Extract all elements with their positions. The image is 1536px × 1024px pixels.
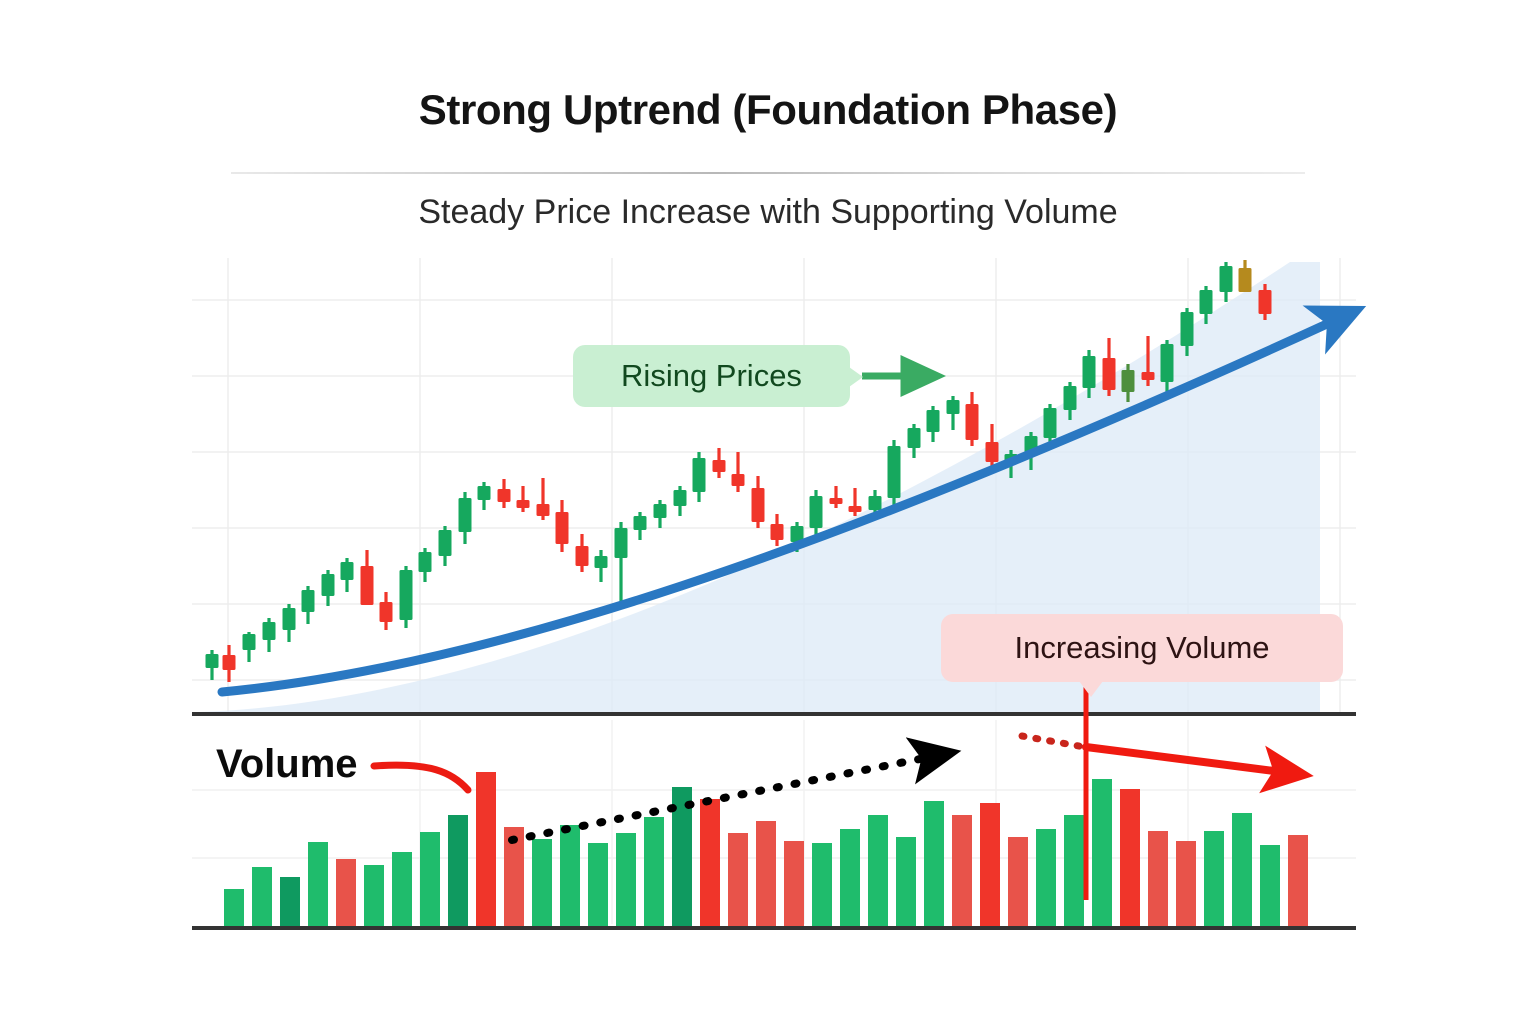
candle-body (1181, 312, 1194, 346)
volume-bar (1148, 831, 1168, 927)
candle-body (283, 608, 296, 630)
volume-bar (448, 815, 468, 927)
volume-bar (1204, 831, 1224, 927)
candle-body (459, 498, 472, 532)
chart-graphics (0, 0, 1536, 1024)
volume-warn-arrow (1086, 747, 1282, 772)
candle-body (1220, 266, 1233, 292)
candle-body (1161, 344, 1174, 382)
volume-bar (896, 837, 916, 927)
candle-body (1259, 290, 1272, 314)
volume-bar (952, 815, 972, 927)
volume-label-leader (374, 765, 468, 790)
volume-bar (616, 833, 636, 927)
volume-bar (840, 829, 860, 927)
candle-body (1239, 268, 1252, 292)
volume-bar (756, 821, 776, 927)
increasing-volume-label: Increasing Volume (1014, 630, 1269, 666)
candle-body (713, 460, 726, 472)
candle-body (206, 654, 219, 668)
candle-body (380, 602, 393, 622)
candle-body (556, 512, 569, 544)
volume-bar (392, 852, 412, 927)
candle-body (302, 590, 315, 612)
candle-body (654, 504, 667, 518)
candle-body (966, 404, 979, 440)
candle-body (615, 528, 628, 558)
candle-body (810, 496, 823, 528)
candle-body (888, 446, 901, 498)
volume-bar (784, 841, 804, 927)
candle-body (849, 506, 862, 512)
candle-body (419, 552, 432, 572)
volume-bar (280, 877, 300, 927)
volume-bar (532, 839, 552, 927)
volume-bar (1288, 835, 1308, 927)
candle-body (771, 524, 784, 540)
volume-bar (476, 772, 496, 927)
candle-body (986, 442, 999, 462)
volume-warn-arrow-tail (1022, 736, 1090, 748)
candle-body (322, 574, 335, 596)
volume-bar (1232, 813, 1252, 927)
candle-body (400, 570, 413, 620)
candle-body (634, 516, 647, 530)
candle-body (1122, 370, 1135, 392)
candle-body (1044, 408, 1057, 438)
candle-body (595, 556, 608, 568)
volume-bar (868, 815, 888, 927)
chart-canvas: Strong Uptrend (Foundation Phase) Steady… (0, 0, 1536, 1024)
volume-bar (1260, 845, 1280, 927)
rising-prices-label: Rising Prices (621, 358, 802, 394)
candle-body (1200, 290, 1213, 314)
candle-body (830, 498, 843, 504)
candle-body (341, 562, 354, 580)
volume-bar (1008, 837, 1028, 927)
volume-bar (1064, 815, 1084, 927)
volume-bar (924, 801, 944, 927)
volume-panel-label: Volume (216, 742, 358, 787)
volume-bar (1120, 789, 1140, 927)
volume-bar (364, 865, 384, 927)
candle-wick (521, 486, 524, 512)
candle-body (1083, 356, 1096, 388)
candle-body (908, 428, 921, 448)
volume-bar (700, 799, 720, 927)
volume-bar (252, 867, 272, 927)
candle-body (1142, 372, 1155, 380)
candle-body (223, 655, 236, 670)
candle-body (498, 489, 511, 502)
volume-bar (644, 817, 664, 927)
volume-bar (1036, 829, 1056, 927)
increasing-volume-callout[interactable]: Increasing Volume (941, 614, 1343, 682)
volume-bar (812, 843, 832, 927)
candle-body (576, 546, 589, 566)
candle-wick (834, 486, 837, 508)
candle-body (263, 622, 276, 640)
candle-body (947, 400, 960, 414)
volume-series (224, 772, 1308, 927)
rising-prices-callout[interactable]: Rising Prices (573, 345, 850, 407)
candle-body (927, 410, 940, 432)
candle-body (439, 530, 452, 556)
candle-body (752, 488, 765, 522)
volume-bar (224, 889, 244, 927)
candle-body (869, 496, 882, 510)
volume-bar (560, 825, 580, 927)
volume-bar (728, 833, 748, 927)
candle-body (243, 634, 256, 650)
volume-bar (1176, 841, 1196, 927)
candle-body (517, 500, 530, 508)
candle-body (732, 474, 745, 486)
volume-bar (420, 832, 440, 927)
candle-body (537, 504, 550, 516)
candle-body (478, 486, 491, 500)
candle-body (674, 490, 687, 506)
volume-bar (308, 842, 328, 927)
candle-body (693, 458, 706, 492)
volume-bar (1092, 779, 1112, 927)
candle-body (1103, 358, 1116, 390)
candle-body (1064, 386, 1077, 410)
candle-body (361, 566, 374, 605)
volume-bar (336, 859, 356, 927)
volume-bar (980, 803, 1000, 927)
volume-bar (588, 843, 608, 927)
